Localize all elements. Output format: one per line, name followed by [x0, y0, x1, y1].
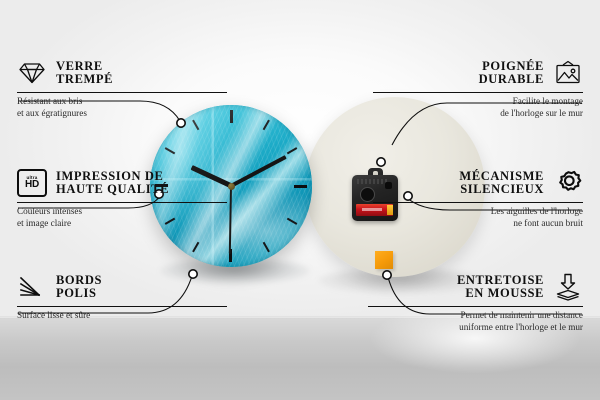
- feature-title: IMPRESSION DE HAUTE QUALITÉ: [56, 170, 169, 197]
- feature-verre-trempe: VERRE TREMPÉ Résistant aux bris et aux é…: [17, 58, 227, 119]
- feature-divider: [17, 92, 227, 93]
- feature-divider: [373, 202, 583, 203]
- feature-header: ultra HD IMPRESSION DE HAUTE QUALITÉ: [17, 168, 227, 198]
- feature-header: BORDS POLIS: [17, 272, 227, 302]
- feature-entretoise-en-mousse: ENTRETOISE EN MOUSSE Permet de maintenir…: [368, 272, 583, 333]
- feature-description: Surface lisse et sûre: [17, 310, 227, 322]
- feature-description: Les aiguilles de l'horloge ne font aucun…: [373, 206, 583, 229]
- diamond-icon: [17, 58, 47, 88]
- feature-bords-polis: BORDS POLIS Surface lisse et sûre: [17, 272, 227, 322]
- gear-icon: [553, 168, 583, 198]
- polished-edges-icon: [17, 272, 47, 302]
- feature-header: POIGNÉE DURABLE: [373, 58, 583, 88]
- feature-impression-haute-qualite: ultra HD IMPRESSION DE HAUTE QUALITÉ Cou…: [17, 168, 227, 229]
- feature-divider: [17, 202, 227, 203]
- ultra-hd-icon: ultra HD: [17, 168, 47, 198]
- foam-spacer: [375, 251, 393, 269]
- feature-description: Résistant aux bris et aux égratignures: [17, 96, 227, 119]
- ultra-hd-large-text: HD: [25, 180, 39, 190]
- feature-title: BORDS POLIS: [56, 274, 102, 301]
- feature-poignee-durable: POIGNÉE DURABLE Facilite le montage de l…: [373, 58, 583, 119]
- feature-divider: [368, 306, 583, 307]
- ultra-hd-badge: ultra HD: [17, 169, 47, 197]
- feature-header: MÉCANISME SILENCIEUX: [373, 168, 583, 198]
- feature-title: ENTRETOISE EN MOUSSE: [457, 274, 544, 301]
- feature-title: POIGNÉE DURABLE: [479, 60, 544, 87]
- feature-mecanisme-silencieux: MÉCANISME SILENCIEUX Les aiguilles de l'…: [373, 168, 583, 229]
- foam-spacer-icon: [553, 272, 583, 302]
- product-infographic: VERRE TREMPÉ Résistant aux bris et aux é…: [0, 0, 600, 400]
- feature-title: MÉCANISME SILENCIEUX: [459, 170, 544, 197]
- feature-header: VERRE TREMPÉ: [17, 58, 227, 88]
- feature-divider: [373, 92, 583, 93]
- feature-header: ENTRETOISE EN MOUSSE: [368, 272, 583, 302]
- feature-title: VERRE TREMPÉ: [56, 60, 113, 87]
- feature-divider: [17, 306, 227, 307]
- feature-description: Couleurs intenses et image claire: [17, 206, 227, 229]
- hanging-picture-icon: [553, 58, 583, 88]
- feature-description: Permet de maintenir une distance uniform…: [368, 310, 583, 333]
- feature-description: Facilite le montage de l'horloge sur le …: [373, 96, 583, 119]
